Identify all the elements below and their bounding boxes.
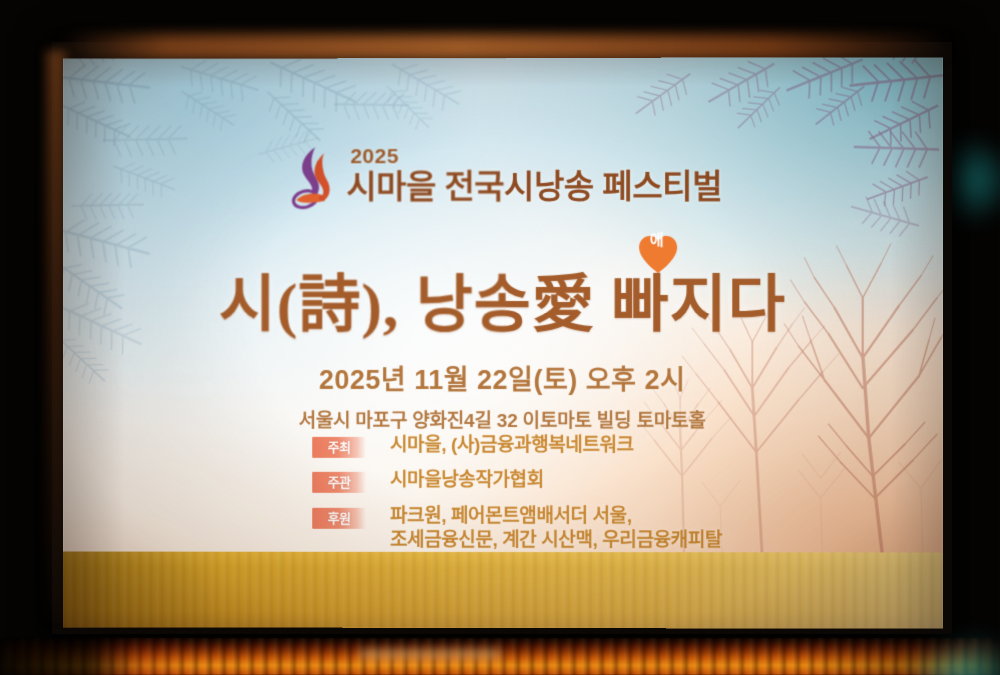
credit-values-host: 시마을, (사)금융과행복네트워크 xyxy=(390,434,634,458)
presentation-slide: 2025 시마을 전국시낭송 페스티벌 시(詩), 낭송愛 빠지다 애 xyxy=(63,57,943,628)
credit-line: 시마을, (사)금융과행복네트워크 xyxy=(390,434,634,458)
event-details: 2025년 11월 22일(토) 오후 2시 서울시 마포구 양화진4길 32 … xyxy=(63,358,943,433)
slide-header: 2025 시마을 전국시낭송 페스티벌 xyxy=(63,136,943,213)
slide-headline-text: 시(詩), 낭송愛 빠지다 xyxy=(219,272,786,340)
credit-line: 파크원, 페어몬트앰배서더 서울, xyxy=(390,505,722,530)
credit-row-organizer: 주관 시마을낭송작가협회 xyxy=(312,469,722,494)
credit-badge-sponsor: 후원 xyxy=(312,507,366,528)
credit-line: 조세금융신문, 계간 시산맥, 우리금융캐피탈 xyxy=(390,529,722,554)
credit-row-sponsor: 후원 파크원, 페어몬트앰배서더 서울, 조세금융신문, 계간 시산맥, 우리금… xyxy=(312,504,722,553)
credit-line: 시마을낭송작가협회 xyxy=(390,469,544,493)
slide-headline-group: 시(詩), 낭송愛 빠지다 애 xyxy=(219,254,786,344)
credit-badge-host: 주최 xyxy=(312,437,366,458)
credit-values-sponsor: 파크원, 페어몬트앰배서더 서울, 조세금융신문, 계간 시산맥, 우리금융캐피… xyxy=(390,505,722,554)
stage-floor xyxy=(0,638,1000,675)
heart-label: 애 xyxy=(636,229,678,250)
festival-name: 시마을 전국시낭송 페스티벌 xyxy=(346,169,722,202)
credit-row-host: 주최 시마을, (사)금융과행복네트워크 xyxy=(312,434,722,459)
headline-wrapper: 시(詩), 낭송愛 빠지다 애 xyxy=(63,254,943,346)
credit-values-organizer: 시마을낭송작가협회 xyxy=(390,469,544,493)
event-venue: 서울시 마포구 양화진4길 32 이토마토 빌딩 토마토홀 xyxy=(63,406,943,433)
slide-header-text: 2025 시마을 전국시낭송 페스티벌 xyxy=(346,145,722,202)
credits-block: 주최 시마을, (사)금융과행복네트워크 주관 시마을낭송작가협회 후원 파크원… xyxy=(312,434,722,565)
credit-badge-organizer: 주관 xyxy=(312,472,366,493)
event-date: 2025년 11월 22일(토) 오후 2시 xyxy=(63,358,943,397)
heart-icon: 애 xyxy=(636,220,680,262)
projection-room: 2025 시마을 전국시낭송 페스티벌 시(詩), 낭송愛 빠지다 애 xyxy=(0,0,1000,675)
festival-year: 2025 xyxy=(350,145,722,166)
flame-swirl-logo-icon xyxy=(282,142,336,212)
slide-content: 2025 시마을 전국시낭송 페스티벌 시(詩), 낭송愛 빠지다 애 xyxy=(63,57,943,628)
